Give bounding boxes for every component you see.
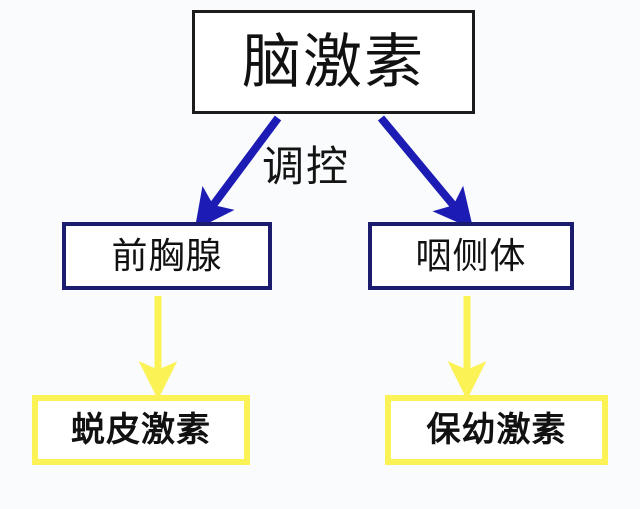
node-prothoracic-gland[interactable]: 前胸腺 xyxy=(62,222,272,290)
node-corpora-allata[interactable]: 咽侧体 xyxy=(368,222,574,290)
connector-root-to-corpora-allata xyxy=(381,118,459,212)
node-juvenile-hormone[interactable]: 保幼激素 xyxy=(385,395,608,465)
edge-label-regulate: 调控 xyxy=(262,146,350,188)
diagram-canvas: 脑激素 调控 前胸腺 咽侧体 蜕皮激素 保幼激素 xyxy=(0,0,640,509)
node-molting-hormone[interactable]: 蜕皮激素 xyxy=(32,395,250,465)
node-brain-hormone[interactable]: 脑激素 xyxy=(192,10,475,114)
